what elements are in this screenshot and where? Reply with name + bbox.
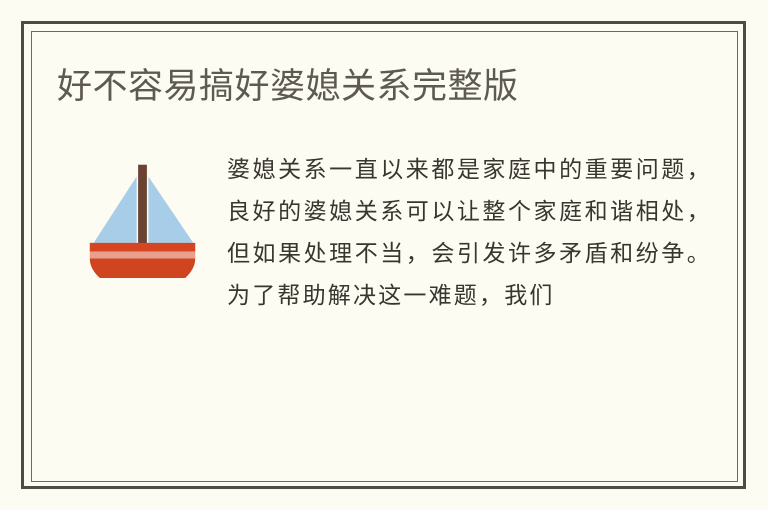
page-title: 好不容易搞好婆媳关系完整版	[57, 65, 697, 109]
article-content: 好不容易搞好婆媳关系完整版 婆媳关系一直以来	[31, 31, 738, 482]
sailboat-icon	[80, 153, 205, 278]
article-page: 好不容易搞好婆媳关系完整版 婆媳关系一直以来	[0, 0, 768, 510]
article-illustration	[57, 147, 227, 278]
article-body-text: 婆媳关系一直以来都是家庭中的重要问题，良好的婆媳关系可以让整个家庭和谐相处，但如…	[227, 147, 712, 317]
article-body-row: 婆媳关系一直以来都是家庭中的重要问题，良好的婆媳关系可以让整个家庭和谐相处，但如…	[57, 147, 712, 317]
